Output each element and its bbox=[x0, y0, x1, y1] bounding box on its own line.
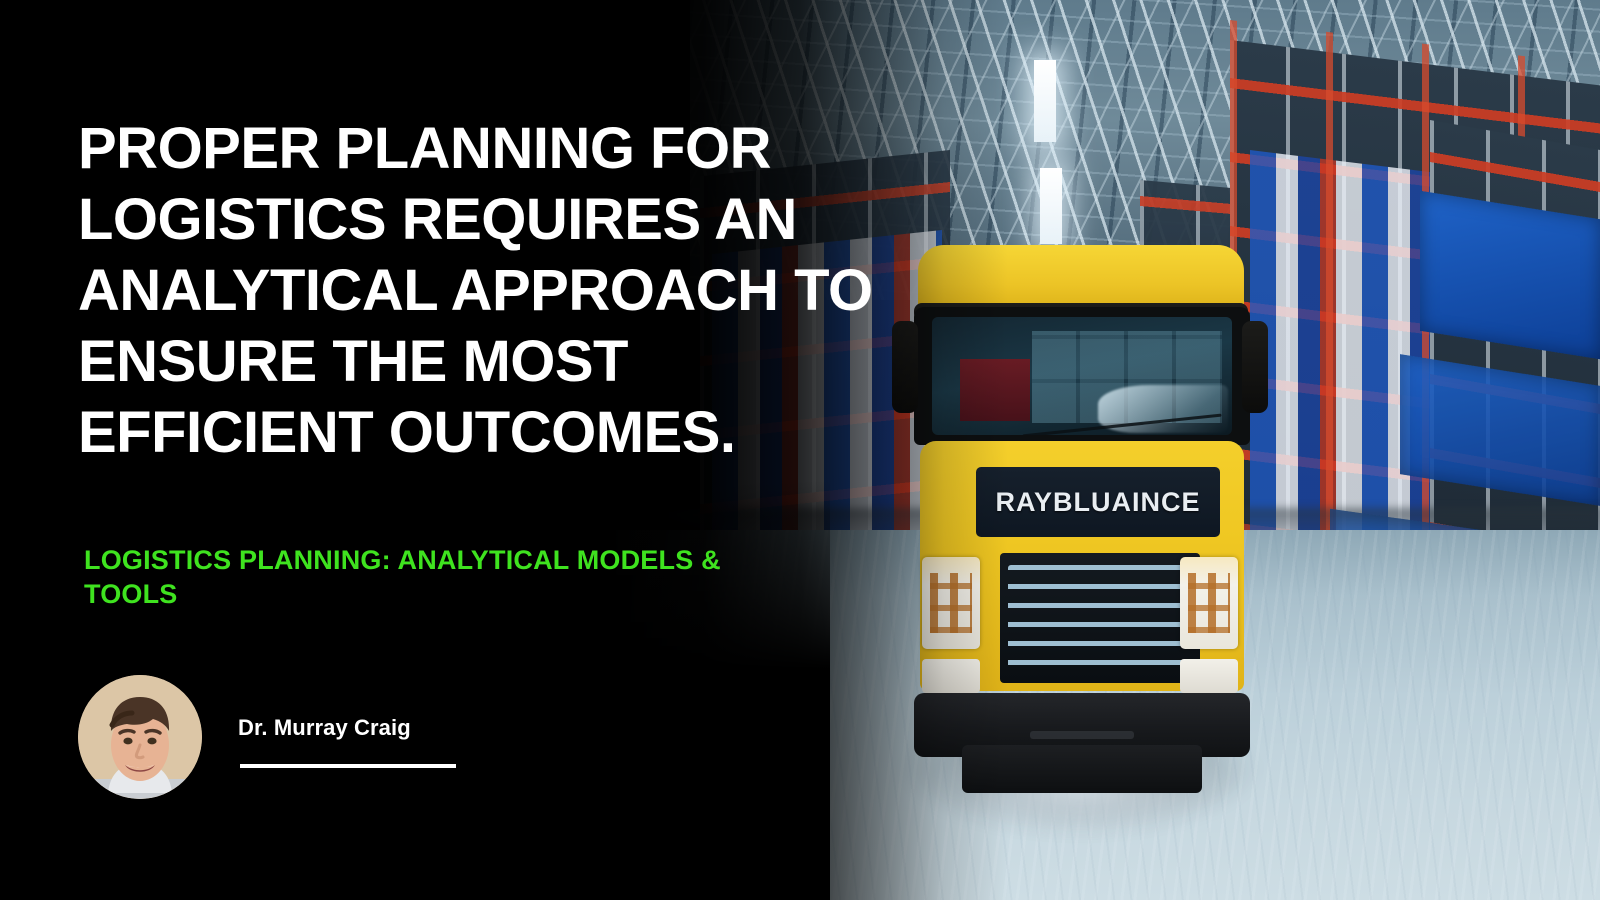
subtitle: Logistics planning: analytical models & … bbox=[84, 543, 744, 611]
slide-content: Proper planning for logistics requires a… bbox=[0, 0, 1600, 900]
avatar bbox=[78, 675, 202, 799]
headline: Proper planning for logistics requires a… bbox=[78, 113, 908, 468]
author-name: Dr. Murray Craig bbox=[238, 715, 411, 741]
author-block: Dr. Murray Craig bbox=[78, 675, 498, 807]
slide-canvas: RAYBLUAINCE Proper planning for logistic… bbox=[0, 0, 1600, 900]
author-rule bbox=[240, 764, 456, 768]
